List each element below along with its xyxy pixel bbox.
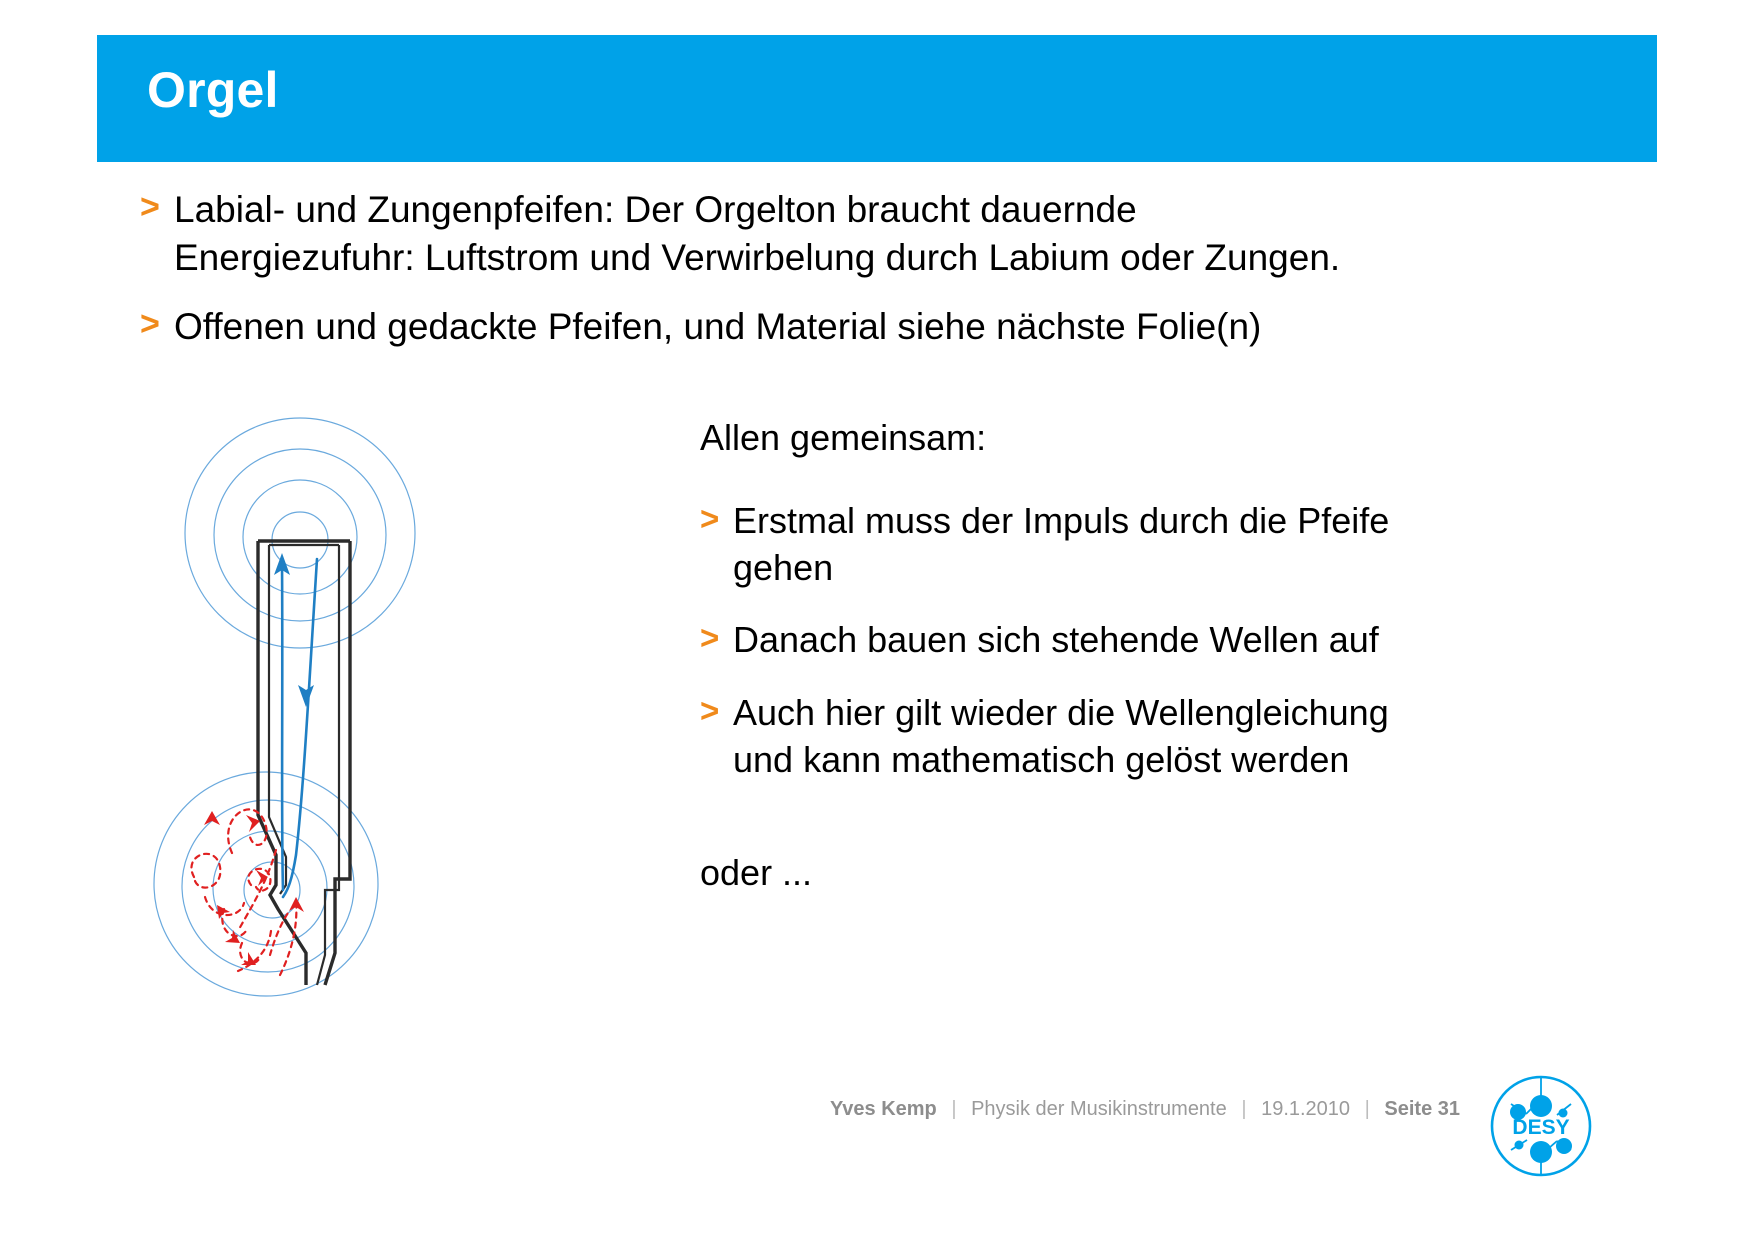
bullet-text: Danach bauen sich stehende Wellen auf — [733, 617, 1580, 664]
list-item: > Offenen und gedackte Pfeifen, und Mate… — [140, 303, 1620, 351]
bullet-text: Erstmal muss der Impuls durch die Pfeife… — [733, 498, 1580, 592]
footer: Yves Kemp | Physik der Musikinstrumente … — [0, 1098, 1460, 1121]
airflow-arrows — [282, 559, 317, 897]
footer-author: Yves Kemp — [830, 1098, 937, 1120]
desy-logo: DESY — [1487, 1072, 1595, 1180]
chevron-right-icon: > — [140, 303, 174, 347]
title-banner: Orgel — [97, 35, 1657, 162]
list-item: > Erstmal muss der Impuls durch die Pfei… — [700, 498, 1580, 592]
organ-pipe-diagram — [120, 385, 480, 1035]
footer-page-number: Seite 31 — [1384, 1098, 1460, 1120]
footer-date: 19.1.2010 — [1261, 1098, 1350, 1120]
chevron-right-icon: > — [700, 690, 733, 733]
footer-separator: | — [951, 1098, 956, 1120]
bullet-text: Auch hier gilt wieder die Wellengleichun… — [733, 690, 1580, 784]
sound-wave-arcs-top — [185, 418, 415, 648]
footer-separator: | — [1365, 1098, 1370, 1120]
bullet-text: Offenen und gedackte Pfeifen, und Materi… — [174, 303, 1620, 351]
logo-text: DESY — [1512, 1116, 1569, 1139]
list-item: > Labial- und Zungenpfeifen: Der Orgelto… — [140, 186, 1620, 281]
top-bullet-list: > Labial- und Zungenpfeifen: Der Orgelto… — [140, 186, 1620, 373]
chevron-right-icon: > — [140, 186, 174, 230]
list-item: > Auch hier gilt wieder die Wellengleich… — [700, 690, 1580, 784]
slide-canvas: Orgel > Labial- und Zungenpfeifen: Der O… — [0, 0, 1754, 1240]
right-column: Allen gemeinsam: > Erstmal muss der Impu… — [700, 415, 1580, 897]
footer-talk-title: Physik der Musikinstrumente — [971, 1098, 1227, 1120]
sound-wave-arcs-bottom — [154, 772, 378, 996]
bullet-text: Labial- und Zungenpfeifen: Der Orgelton … — [174, 186, 1620, 281]
footer-separator: | — [1241, 1098, 1246, 1120]
right-column-tail: oder ... — [700, 850, 1580, 897]
list-item: > Danach bauen sich stehende Wellen auf — [700, 617, 1580, 664]
chevron-right-icon: > — [700, 498, 733, 541]
right-column-heading: Allen gemeinsam: — [700, 415, 1580, 462]
page-title: Orgel — [147, 63, 279, 118]
chevron-right-icon: > — [700, 617, 733, 660]
